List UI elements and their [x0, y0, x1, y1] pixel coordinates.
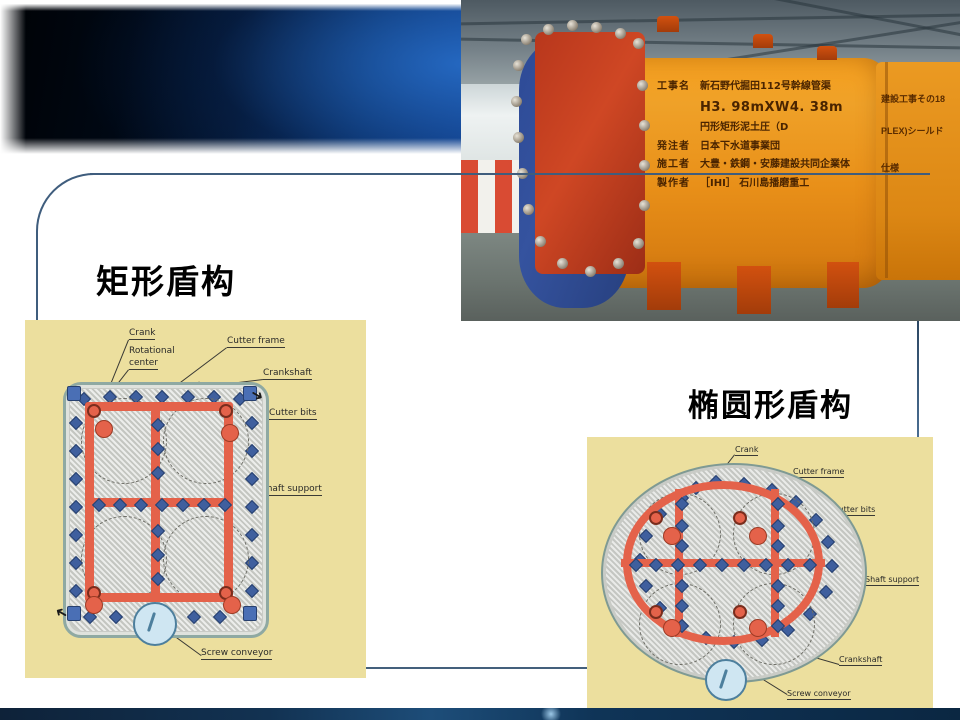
cutter-bit-icon	[567, 20, 578, 31]
label-rotational-center-2: center	[129, 358, 158, 370]
crank-hub	[649, 605, 663, 619]
crank-hub	[733, 511, 747, 525]
label-screw-conveyor: Screw conveyor	[201, 648, 272, 660]
crank-hub	[733, 605, 747, 619]
header-banner	[0, 4, 464, 154]
crank-pin	[85, 596, 103, 614]
crank-pin	[663, 619, 681, 637]
placard-value: 大豊・鉄鋼・安藤建設共同企業体	[700, 158, 887, 173]
cutter-bit-icon	[585, 266, 596, 277]
crank-pin	[221, 424, 239, 442]
banner-left-fade	[0, 4, 26, 154]
corner-cutter-bit-icon	[243, 606, 257, 621]
diagram-elliptical-shield: Crank Cutter frame Cutter bits Shaft sup…	[587, 437, 933, 713]
cutter-bit-icon	[615, 28, 626, 39]
screw-conveyor-icon	[705, 659, 747, 701]
crank-hub	[87, 404, 101, 418]
cutter-bit-icon	[543, 24, 554, 35]
crank-pin	[223, 596, 241, 614]
tbm-placard-text: 工事名 新石野代掘田112号幹線管渠 H3. 98mXW4. 38m 円形矩形泥…	[657, 80, 887, 195]
placard-value: 新石野代掘田112号幹線管渠	[700, 80, 887, 95]
presentation-slide: 工事名 新石野代掘田112号幹線管渠 H3. 98mXW4. 38m 円形矩形泥…	[0, 0, 960, 720]
placard-side-line: PLEX)シールド	[881, 124, 960, 138]
label-rotational-center: Rotational	[129, 346, 175, 356]
label-shaft-support: Shaft support	[261, 484, 322, 496]
cutter-bit-icon	[633, 38, 644, 49]
cutter-bit-icon	[639, 160, 650, 171]
cutter-bit-icon	[513, 132, 524, 143]
crank-pin	[749, 619, 767, 637]
placard-key: 施工者	[657, 158, 691, 173]
tbm-support-leg	[827, 262, 859, 308]
placard-key: 発注者	[657, 140, 691, 155]
footer-bar	[0, 708, 960, 720]
placard-key: 製作者	[657, 177, 691, 192]
cutter-bit-icon	[633, 238, 644, 249]
label-crank: Crank	[735, 445, 758, 456]
placard-row: 工事名 新石野代掘田112号幹線管渠	[657, 80, 887, 95]
cutter-bit-icon	[639, 120, 650, 131]
label-crank: Crank	[129, 328, 155, 340]
label-cutter-frame: Cutter frame	[227, 336, 285, 348]
tbm-lifting-lug	[753, 34, 773, 48]
banner-bottom-fade	[0, 138, 464, 154]
screw-conveyor-icon	[133, 602, 177, 646]
diagram-rectangular-shield: Crank Rotational center Cutter frame Cra…	[25, 320, 366, 678]
crank-hub	[219, 404, 233, 418]
label-cutter-bits: Cutter bits	[269, 408, 317, 420]
label-cutter-frame: Cutter frame	[793, 467, 844, 478]
label-shaft-support: Shaft support	[865, 575, 919, 586]
cutter-bit-icon	[513, 60, 524, 71]
cutter-bit-icon	[591, 22, 602, 33]
tbm-placard-side-text: 建設工事その18 PLEX)シールド 仕様	[881, 92, 960, 175]
decorative-frame-top-line	[90, 173, 930, 175]
decorative-frame-middle-line	[360, 667, 590, 669]
crank-pin	[663, 527, 681, 545]
placard-side-line: 建設工事その18	[881, 92, 960, 106]
tbm-support-leg	[647, 262, 681, 310]
placard-row: 発注者 日本下水道事業団	[657, 140, 887, 155]
placard-key	[657, 121, 691, 136]
cutter-bit-icon	[511, 96, 522, 107]
placard-key: 工事名	[657, 80, 691, 95]
cutter-bit-icon	[639, 200, 650, 211]
page-title-elliptical-shield: 椭圆形盾构	[688, 380, 853, 425]
decorative-frame-right-line	[917, 321, 919, 439]
label-screw-conveyor: Screw conveyor	[787, 689, 851, 700]
crank-pin	[95, 420, 113, 438]
tbm-support-leg	[737, 266, 771, 314]
placard-key	[657, 99, 691, 118]
label-crankshaft: Crankshaft	[263, 368, 312, 380]
corner-cutter-bit-icon	[67, 386, 81, 401]
placard-value: 日本下水道事業団	[700, 140, 887, 155]
label-crankshaft: Crankshaft	[839, 655, 882, 666]
cutter-bit-icon	[613, 258, 624, 269]
crank-pin	[749, 527, 767, 545]
placard-row: H3. 98mXW4. 38m	[657, 99, 887, 118]
cutter-bit-icon	[637, 80, 648, 91]
placard-row: 製作者 ［IHI］ 石川島播磨重工	[657, 177, 887, 192]
crank-hub	[649, 511, 663, 525]
cutter-bit-icon	[521, 34, 532, 45]
cutter-bit-icon	[557, 258, 568, 269]
placard-value: ［IHI］ 石川島播磨重工	[700, 177, 887, 192]
placard-row: 施工者 大豊・鉄鋼・安藤建設共同企業体	[657, 158, 887, 173]
placard-value: H3. 98mXW4. 38m	[700, 99, 887, 118]
tbm-lifting-lug	[657, 16, 679, 32]
tbm-lifting-lug	[817, 46, 837, 60]
page-title-rectangular-shield: 矩形盾构	[96, 255, 236, 303]
placard-row: 円形矩形泥土圧（D	[657, 121, 887, 136]
placard-value: 円形矩形泥土圧（D	[700, 121, 887, 136]
